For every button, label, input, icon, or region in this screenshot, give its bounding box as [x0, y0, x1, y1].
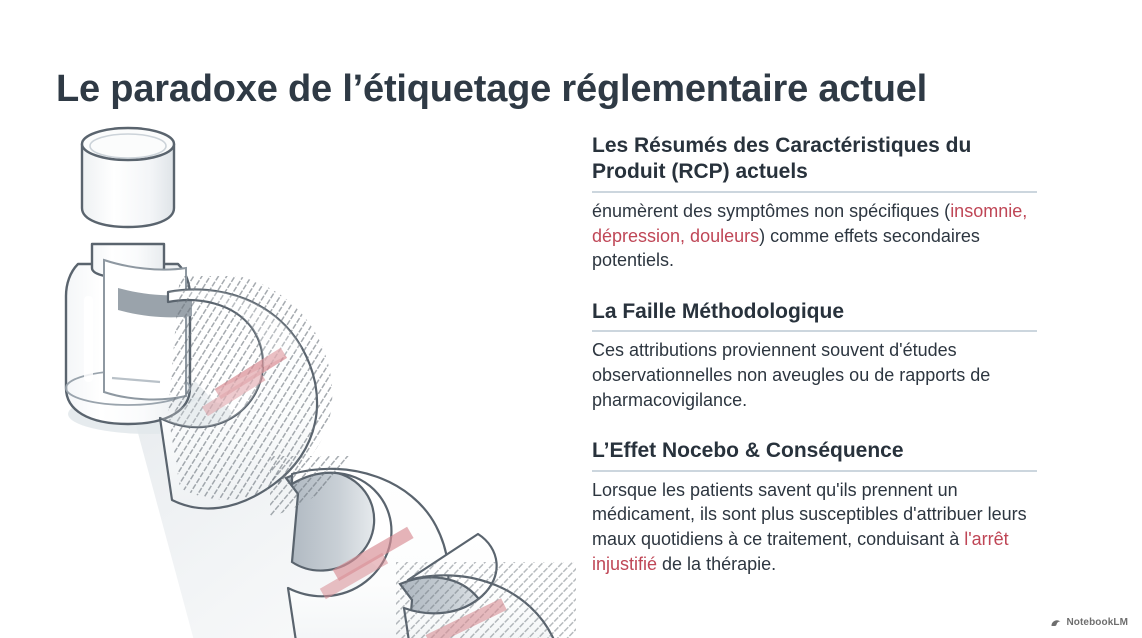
slide-canvas: Le paradoxe de l’étiquetage réglementair…: [0, 0, 1142, 638]
notebooklm-label: NotebookLM: [1066, 617, 1128, 628]
body-text-plain: énumèrent des symptômes non spécifiques …: [592, 201, 950, 221]
notebooklm-spark-icon: [1050, 616, 1062, 628]
content-block-nocebo: L’Effet Nocebo & Conséquence Lorsque les…: [592, 438, 1072, 576]
body-text-plain: Lorsque les patients savent qu'ils prenn…: [592, 480, 1027, 549]
content-column: Les Résumés des Caractéristiques du Prod…: [592, 133, 1072, 576]
block-heading-faille: La Faille Méthodologique: [592, 299, 1037, 332]
vial-cap: [82, 128, 174, 227]
content-block-faille: La Faille Méthodologique Ces attribution…: [592, 299, 1072, 412]
block-body-nocebo: Lorsque les patients savent qu'ils prenn…: [592, 478, 1062, 577]
notebooklm-watermark: NotebookLM: [1050, 616, 1128, 628]
block-heading-rcp: Les Résumés des Caractéristiques du Prod…: [592, 133, 1037, 193]
vial-leaflet-illustration: [0, 96, 640, 638]
block-heading-nocebo: L’Effet Nocebo & Conséquence: [592, 438, 1037, 471]
block-body-faille: Ces attributions proviennent souvent d'é…: [592, 338, 1062, 412]
body-text-tail: de la thérapie.: [657, 554, 776, 574]
block-body-rcp: énumèrent des symptômes non spécifiques …: [592, 199, 1062, 273]
body-text-plain: Ces attributions proviennent souvent d'é…: [592, 340, 990, 409]
content-block-rcp: Les Résumés des Caractéristiques du Prod…: [592, 133, 1072, 273]
